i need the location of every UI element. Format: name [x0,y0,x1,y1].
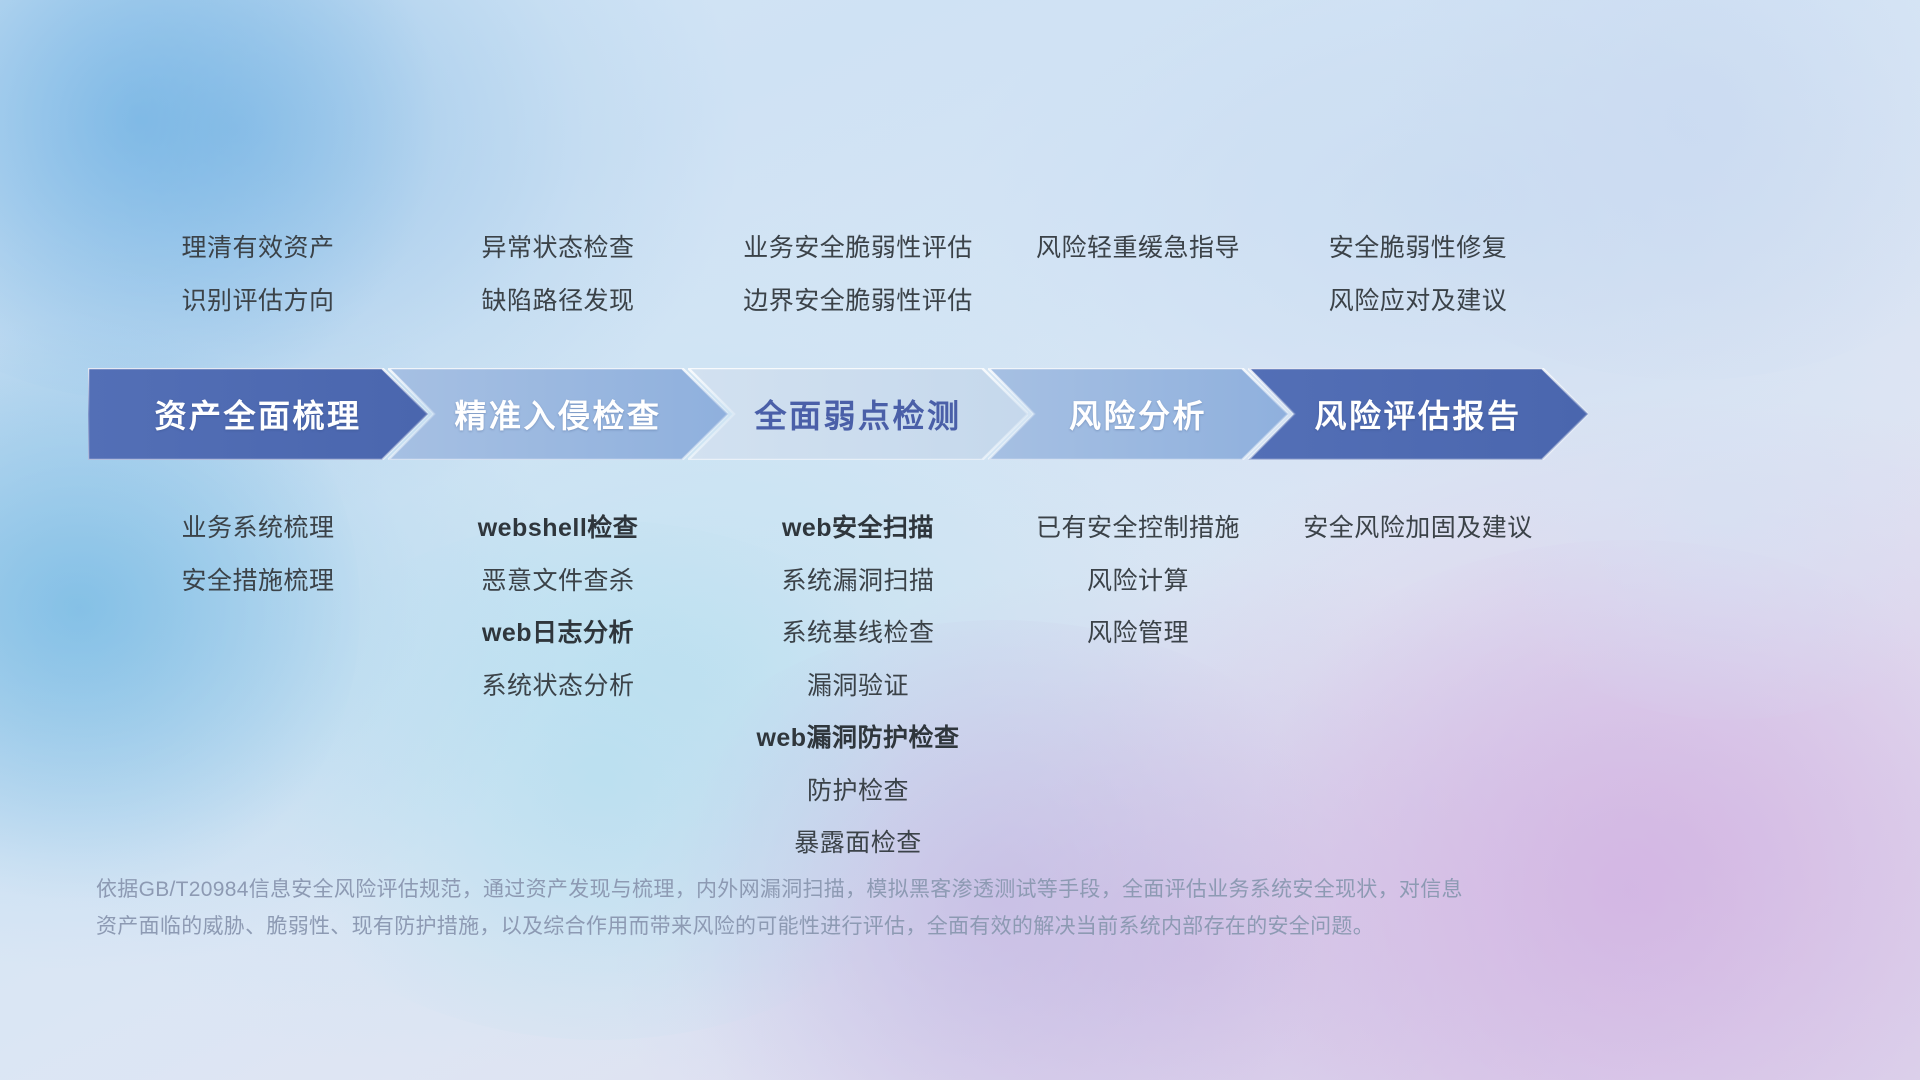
stage-title: 全面弱点检测 [754,391,961,437]
footer-line-2: 资产面临的威胁、脆弱性、现有防护措施，以及综合作用而带来风险的可能性进行评估，全… [96,909,1656,946]
caption-item: 安全风险加固及建议 [1228,508,1608,549]
caption-item: 安全脆弱性修复 [1248,228,1588,269]
top-captions-intrusion-check: 异常状态检查缺陷路径发现 [388,228,728,321]
top-captions-asset-inventory: 理清有效资产识别评估方向 [88,228,428,321]
stage-title: 风险分析 [1069,391,1207,437]
caption-item: 边界安全脆弱性评估 [688,281,1028,322]
caption-item: 漏洞验证 [668,666,1048,707]
caption-item: 风险轻重缓急指导 [988,228,1288,269]
caption-item: 业务安全脆弱性评估 [688,228,1028,269]
caption-item: 识别评估方向 [88,281,428,322]
footer-description: 依据GB/T20984信息安全风险评估规范，通过资产发现与梳理，内外网漏洞扫描，… [96,872,1656,946]
background-blob [1340,0,1920,380]
caption-item: 暴露面检查 [668,823,1048,864]
process-stage-asset-inventory[interactable]: 资产全面梳理 [88,368,428,460]
footer-line-1: 依据GB/T20984信息安全风险评估规范，通过资产发现与梳理，内外网漏洞扫描，… [96,872,1656,909]
process-chevron-band: 资产全面梳理精准入侵检查全面弱点检测风险分析风险评估报告 [0,368,1920,460]
caption-item: 理清有效资产 [88,228,428,269]
process-stage-weakness-detection[interactable]: 全面弱点检测 [688,368,1028,460]
caption-item: 防护检查 [668,771,1048,812]
background-blob [0,0,460,400]
caption-item: 风险计算 [968,561,1308,602]
process-stage-risk-report[interactable]: 风险评估报告 [1248,368,1588,460]
caption-item: 缺陷路径发现 [388,281,728,322]
process-stage-intrusion-check[interactable]: 精准入侵检查 [388,368,728,460]
caption-item: 风险管理 [968,613,1308,654]
process-stage-risk-analysis[interactable]: 风险分析 [988,368,1288,460]
stage-title: 精准入侵检查 [454,391,661,437]
caption-item: web漏洞防护检查 [668,718,1048,759]
stage-title: 资产全面梳理 [154,391,361,437]
caption-item: 异常状态检查 [388,228,728,269]
top-captions-risk-report: 安全脆弱性修复风险应对及建议 [1248,228,1588,321]
bottom-captions-risk-report: 安全风险加固及建议 [1228,508,1608,549]
caption-item: 风险应对及建议 [1248,281,1588,322]
top-captions-risk-analysis: 风险轻重缓急指导 [988,228,1288,269]
top-captions-weakness-detection: 业务安全脆弱性评估边界安全脆弱性评估 [688,228,1028,321]
diagram-canvas: 理清有效资产识别评估方向异常状态检查缺陷路径发现业务安全脆弱性评估边界安全脆弱性… [0,0,1920,1080]
stage-title: 风险评估报告 [1314,391,1521,437]
